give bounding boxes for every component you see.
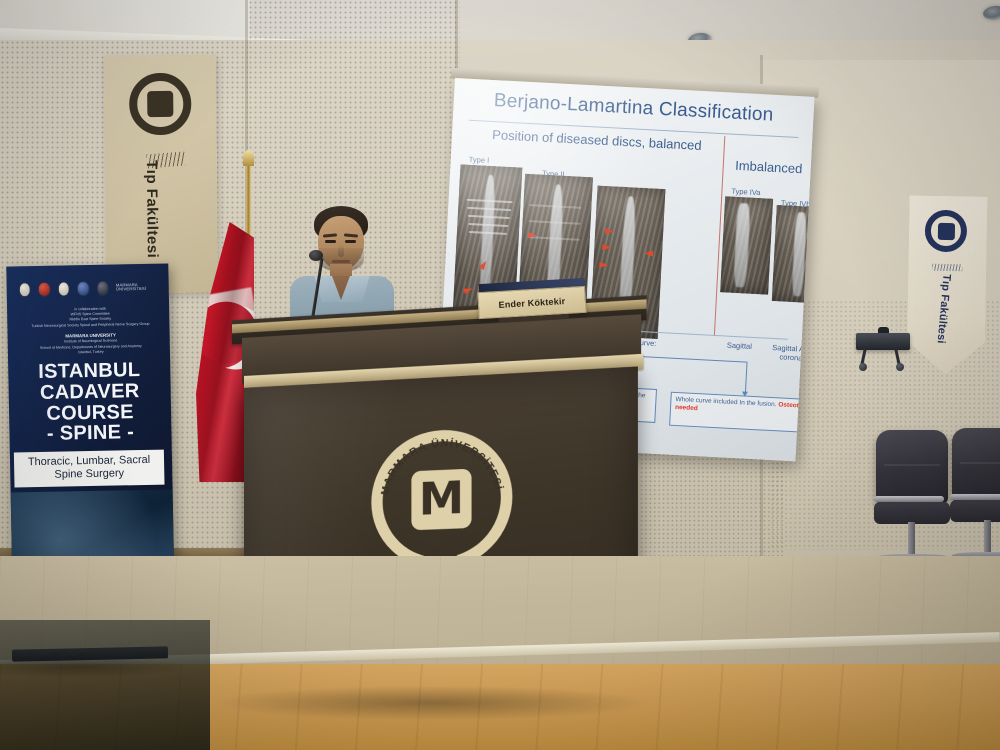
- banner-collaboration-text: in collaboration with WFNS Spine Committ…: [21, 306, 159, 329]
- chair-backrest: [876, 430, 948, 504]
- wall-sign-left-label: Tıp Fakültesi: [143, 160, 161, 258]
- mount-bracket-foot: [859, 363, 867, 371]
- slide-outcome-box-right: Whole curve included In the fusion. Oste…: [669, 392, 814, 434]
- slide-type-label: Type IVa: [731, 187, 760, 198]
- wall-sign-left: Tıp Fakültesi: [104, 54, 218, 293]
- speaker-mouth: [332, 260, 350, 263]
- org-logo-icon: [77, 280, 90, 295]
- slide-right-section-heading: Imbalanced: [728, 158, 809, 176]
- hanging-banner-right: Tıp Fakültesi: [906, 195, 987, 374]
- crest-ring-text: MARMARA ÜNİVERSİTESİ: [380, 433, 506, 496]
- banner-title: ISTANBUL CADAVER COURSE - SPINE -: [16, 360, 164, 446]
- name-card-face: Ender Köktekir: [477, 286, 586, 319]
- marmara-wordmark: MARMARA ÜNİVERSİTESİ: [116, 282, 159, 292]
- slide-type-label: Type I: [469, 155, 490, 165]
- banner-logo-row: MARMARA ÜNİVERSİTESİ: [19, 276, 159, 301]
- speaker-eye: [345, 240, 356, 243]
- speaker-name-card: Ender Köktekir: [477, 284, 587, 324]
- banner-title-line: - SPINE -: [17, 422, 163, 446]
- mount-bracket-foot: [896, 363, 904, 371]
- svg-text:MARMARA ÜNİVERSİTESİ: MARMARA ÜNİVERSİTESİ: [380, 433, 506, 496]
- microphone-icon: [309, 250, 323, 261]
- chair-backrest: [952, 428, 1000, 502]
- chair-post: [908, 522, 915, 556]
- marmara-seal-icon: [925, 210, 968, 253]
- chair-post: [984, 520, 991, 554]
- seal-emblem-icon: [147, 91, 173, 117]
- org-logo-icon: [19, 282, 32, 297]
- org-logo-icon: [57, 281, 70, 296]
- hanging-banner-label: Tıp Fakültesi: [935, 274, 953, 345]
- chair-seat: [950, 500, 1000, 522]
- slide-connector-line: [745, 362, 748, 394]
- crest-ring-text-arc: MARMARA ÜNİVERSİTESİ: [383, 439, 501, 560]
- conference-hall-photo: Berjano-Lamartina Classification Positio…: [0, 0, 1000, 750]
- xray-image-type-4a: [720, 196, 773, 294]
- banner-title-line: COURSE: [17, 401, 163, 425]
- marmara-university-crest-icon: M MARMARA ÜNİVERSİTESİ 1883: [371, 427, 512, 572]
- foreground-shadow-left: [0, 620, 210, 750]
- banner-university-text: MARMARA UNIVERSITY Institute of Neurolog…: [22, 332, 160, 357]
- banner-title-line: CADAVER: [17, 380, 163, 404]
- flag-pole-finial: [243, 150, 254, 166]
- speaker-name-text: Ender Köktekir: [498, 296, 565, 310]
- chair-seat: [874, 502, 950, 524]
- marmara-seal-icon: [129, 73, 192, 136]
- speaker-eye: [325, 240, 336, 243]
- slide-note-sagittal: Sagittal: [719, 340, 759, 351]
- projector-mount-icon: [856, 333, 910, 350]
- banner-subtitle: Thoracic, Lumbar, Sacral Spine Surgery: [14, 450, 165, 488]
- decorative-lines: [932, 264, 962, 272]
- seal-emblem-icon: [937, 222, 954, 239]
- org-logo-icon: [38, 281, 51, 296]
- podium-shadow: [216, 686, 646, 720]
- banner-title-line: ISTANBUL: [16, 360, 162, 384]
- org-logo-icon: [96, 280, 109, 295]
